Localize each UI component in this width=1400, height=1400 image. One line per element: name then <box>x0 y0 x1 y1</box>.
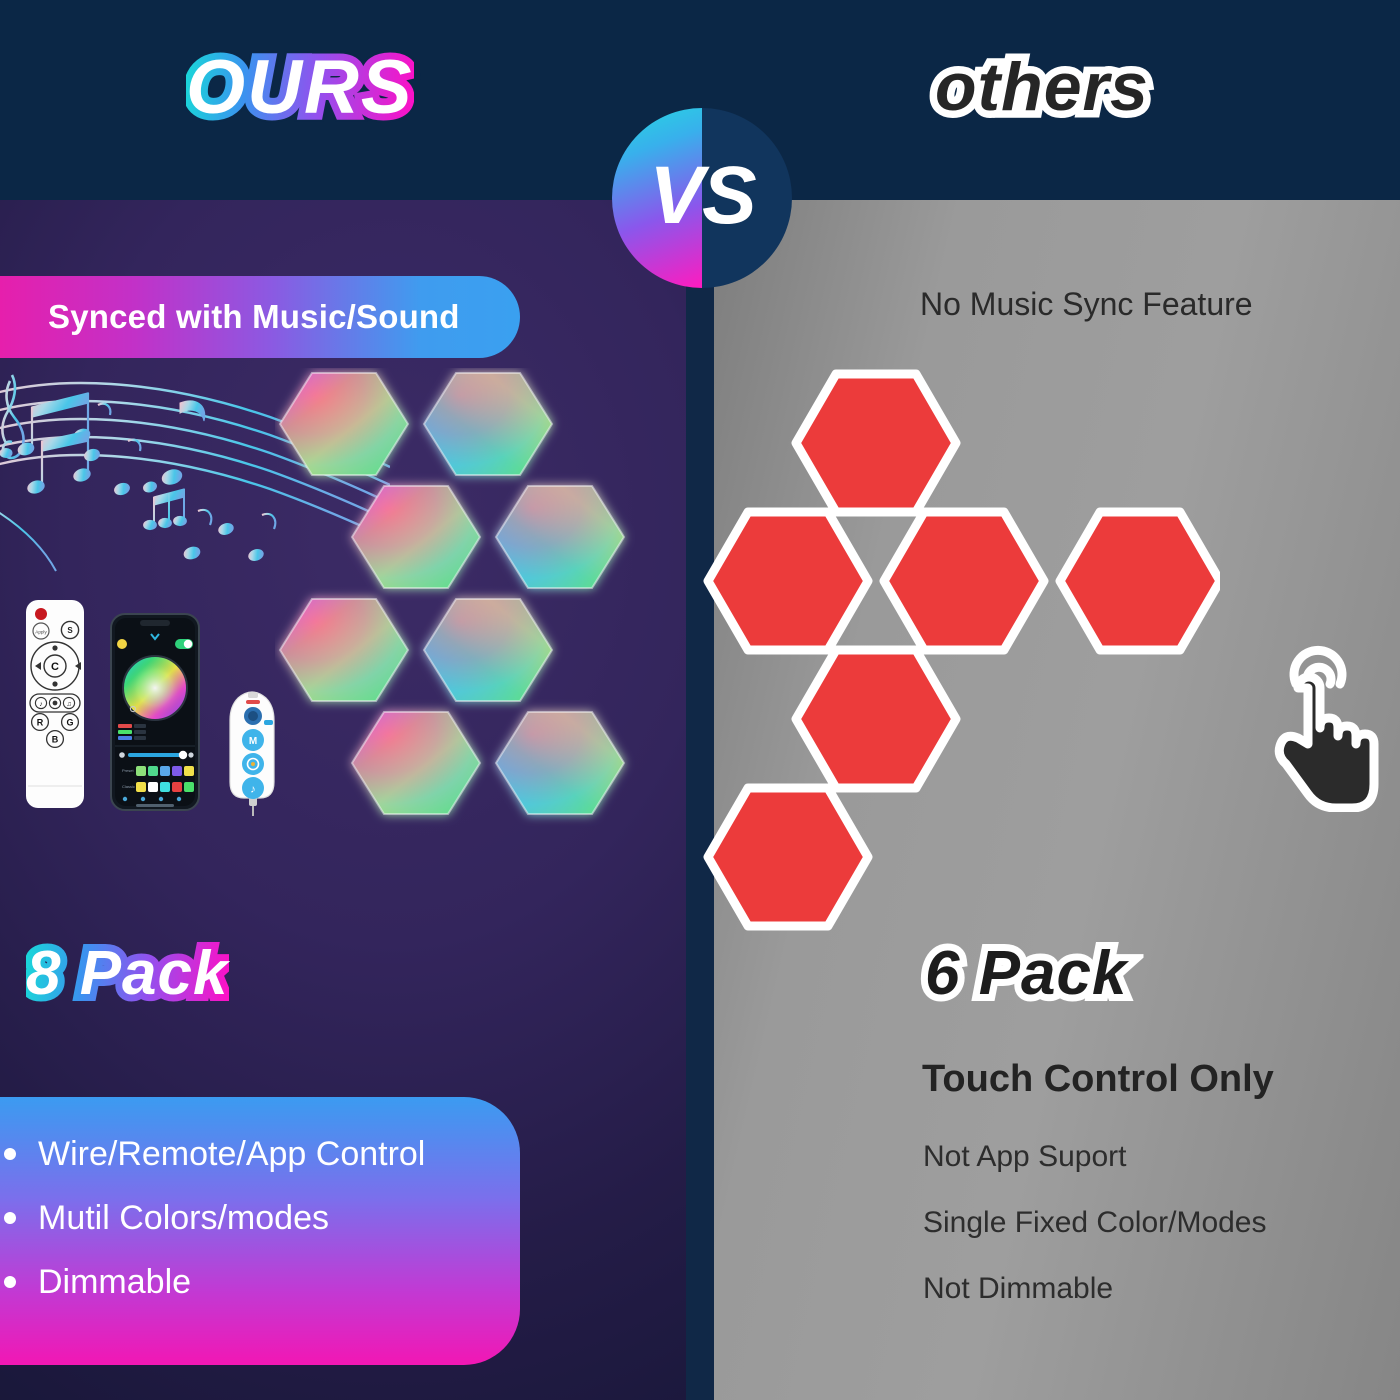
touch-control-heading: Touch Control Only <box>922 1058 1274 1101</box>
svg-text:Preset: Preset <box>122 768 134 773</box>
features-panel-ours: Wire/Remote/App Control Mutil Colors/mod… <box>0 1097 520 1365</box>
hexagon-cluster-rgb <box>275 368 715 968</box>
svg-text:Classic: Classic <box>122 784 135 789</box>
list-item: Not App Suport <box>923 1140 1267 1174</box>
bullet-dot-icon <box>4 1148 16 1160</box>
ours-title-fill: OURS <box>186 44 414 131</box>
svg-text:M: M <box>249 736 257 747</box>
vs-badge: VS <box>612 108 792 288</box>
feature-label: Wire/Remote/App Control <box>38 1137 425 1171</box>
list-item: Single Fixed Color/Modes <box>923 1206 1267 1240</box>
remote-control-icon: Apply S C ♪ ♫ R G B <box>26 600 84 808</box>
features-list-others: Not App Suport Single Fixed Color/Modes … <box>923 1140 1267 1338</box>
hexagon-cluster-red <box>700 360 1220 1010</box>
comparison-infographic: OURS OURS OURS others others VS <box>0 0 1400 1400</box>
list-item: Mutil Colors/modes <box>4 1201 520 1235</box>
list-item: Not Dimmable <box>923 1272 1267 1306</box>
vs-label: VS <box>612 108 792 288</box>
inline-controller-icon: M ♪ <box>230 692 274 816</box>
touch-hand-icon <box>1256 632 1386 812</box>
feature-label: Dimmable <box>38 1265 191 1299</box>
list-item: Dimmable <box>4 1265 520 1299</box>
bullet-dot-icon <box>4 1276 16 1288</box>
bullet-dot-icon <box>4 1212 16 1224</box>
sync-pill: Synced with Music/Sound <box>0 276 520 358</box>
sync-pill-label: Synced with Music/Sound <box>48 298 460 336</box>
list-item: Wire/Remote/App Control <box>4 1137 520 1171</box>
svg-text:Apply: Apply <box>35 630 47 635</box>
others-title-fill: others <box>935 48 1149 126</box>
svg-text:G: G <box>66 718 73 728</box>
svg-text:B: B <box>52 735 59 745</box>
features-list-ours: Wire/Remote/App Control Mutil Colors/mod… <box>4 1137 520 1299</box>
svg-text:♪: ♪ <box>250 784 256 796</box>
accessories-group: Apply S C ♪ ♫ R G B <box>12 596 282 828</box>
svg-text:C: C <box>51 661 59 673</box>
no-sync-label: No Music Sync Feature <box>920 286 1253 323</box>
feature-label: Mutil Colors/modes <box>38 1201 329 1235</box>
svg-text:R: R <box>37 718 44 728</box>
svg-text:♪: ♪ <box>39 701 43 708</box>
pack8-fill: 8 Pack <box>26 938 229 1009</box>
svg-text:S: S <box>67 626 73 635</box>
pack6-fill: 6 Pack <box>925 938 1128 1009</box>
smartphone-app-icon: Preset Classic <box>111 614 199 810</box>
svg-text:♫: ♫ <box>66 701 71 708</box>
